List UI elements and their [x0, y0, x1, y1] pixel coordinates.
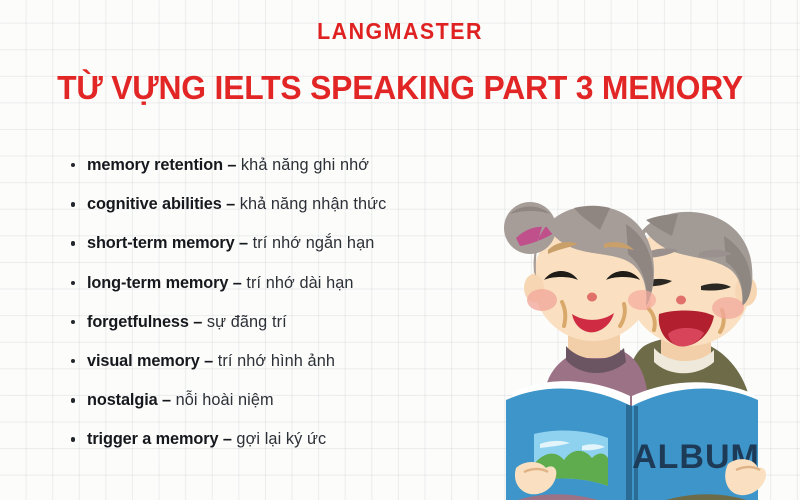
list-item: short-term memory – trí nhớ ngắn hạn: [66, 230, 536, 269]
vocab-term: cognitive abilities –: [87, 195, 235, 213]
list-item: nostalgia – nỗi hoài niệm: [66, 387, 536, 426]
woman-nose: [587, 293, 597, 302]
album-spine: [626, 404, 632, 500]
vocab-term: nostalgia –: [87, 391, 171, 409]
langmaster-logo: LANGMASTER: [28, 20, 772, 43]
woman-blush-right: [628, 290, 656, 310]
bullet-icon: [71, 241, 75, 245]
man-nose: [676, 296, 686, 305]
list-item: cognitive abilities – khả năng nhận thức: [66, 191, 536, 230]
list-item: trigger a memory – gợi lại ký ức: [66, 426, 536, 465]
vocab-gloss: trí nhớ dài hạn: [242, 274, 354, 292]
vocab-term: visual memory –: [87, 352, 213, 370]
list-item: visual memory – trí nhớ hình ảnh: [66, 348, 536, 387]
vocab-gloss: trí nhớ hình ảnh: [213, 352, 335, 370]
list-item: forgetfulness – sự đãng trí: [66, 309, 536, 348]
vocab-term: memory retention –: [87, 156, 236, 174]
bullet-icon: [71, 437, 75, 441]
vocab-term: trigger a memory –: [87, 430, 232, 448]
bullet-icon: [71, 320, 75, 324]
poster-canvas: LANGMASTER TỪ VỰNG IELTS SPEAKING PART 3…: [0, 0, 800, 500]
woman-blush-left: [527, 289, 557, 311]
bullet-icon: [71, 359, 75, 363]
vocabulary-list: memory retention – khả năng ghi nhớ cogn…: [66, 152, 536, 466]
vocab-term: long-term memory –: [87, 274, 242, 292]
man-hand: [725, 459, 766, 495]
vocab-gloss: khả năng nhận thức: [235, 195, 386, 213]
bullet-icon: [71, 398, 75, 402]
elderly-couple-illustration: ALBUM: [496, 196, 786, 500]
vocab-term: forgetfulness –: [87, 313, 202, 331]
vocab-gloss: khả năng ghi nhớ: [236, 156, 369, 174]
list-item: long-term memory – trí nhớ dài hạn: [66, 270, 536, 309]
vocab-term: short-term memory –: [87, 234, 248, 252]
bullet-icon: [71, 163, 75, 167]
vocab-gloss: sự đãng trí: [202, 313, 287, 331]
bullet-icon: [71, 281, 75, 285]
man-blush-right: [712, 297, 744, 319]
vocab-gloss: gợi lại ký ức: [232, 430, 326, 448]
page-title: TỪ VỰNG IELTS SPEAKING PART 3 MEMORY: [14, 70, 786, 107]
vocab-gloss: trí nhớ ngắn hạn: [248, 234, 374, 252]
bullet-icon: [71, 202, 75, 206]
list-item: memory retention – khả năng ghi nhớ: [66, 152, 536, 191]
vocab-gloss: nỗi hoài niệm: [171, 391, 274, 409]
